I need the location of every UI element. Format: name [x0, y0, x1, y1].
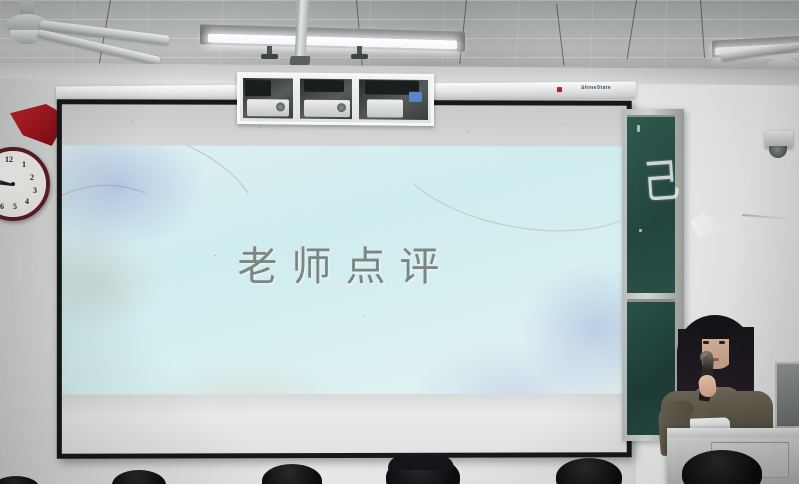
projector-housing-cage	[237, 72, 434, 126]
presenter-eye-right	[719, 341, 725, 344]
projector-body	[247, 99, 289, 116]
projector-indicator	[409, 92, 422, 102]
projection-screen-surface: 老师点评	[62, 104, 627, 453]
clock-center-pin	[11, 182, 15, 186]
blackboard-panel-upper: 己	[627, 115, 675, 293]
equipment-frame	[775, 362, 799, 428]
chalk-smudge	[637, 125, 640, 132]
projector-part	[245, 80, 271, 96]
lectern-top-surface	[667, 428, 799, 437]
screen-unlit-bottom	[62, 394, 627, 454]
projector-part	[304, 80, 344, 92]
cage-window-right	[359, 79, 428, 120]
projector-lens	[337, 103, 346, 112]
chalk-writing: 己	[640, 144, 681, 212]
clock-numeral-5: 5	[13, 202, 17, 211]
projected-slide: 老师点评	[62, 145, 627, 394]
cage-window-left	[243, 78, 293, 119]
slide-title: 老师点评	[62, 234, 627, 292]
brand-logo-mark	[557, 87, 562, 92]
projection-screen: 老师点评	[57, 99, 632, 459]
clock-numeral-3: 3	[33, 186, 37, 195]
screen-speck	[215, 255, 216, 256]
cage-mount-foot	[351, 54, 368, 59]
clock-numeral-1: 1	[22, 160, 26, 169]
clock-numeral-12: 12	[5, 155, 13, 164]
screen-speck	[562, 124, 563, 125]
classroom-photo: 12 1 2 3 4 5 6 ShineState 老师点评	[0, 0, 799, 484]
student-head-accessory	[388, 456, 454, 470]
projector-lens	[276, 102, 285, 111]
projector-body	[304, 100, 350, 117]
screen-speck	[132, 120, 133, 121]
clock-numeral-2: 2	[30, 173, 34, 182]
cage-mount-foot	[261, 54, 278, 59]
clock-numeral-4: 4	[25, 197, 29, 206]
chalk-smudge	[639, 229, 642, 232]
presenter-eye-left	[703, 341, 709, 344]
cage-window-center	[300, 79, 352, 120]
screen-speck	[363, 315, 364, 316]
clock-numeral-6: 6	[0, 202, 4, 211]
screen-speck	[467, 131, 468, 132]
screen-brand-label: ShineState	[581, 85, 611, 91]
screen-speck	[259, 127, 260, 128]
projector-body	[367, 99, 403, 117]
projector-pole-bracket	[289, 56, 310, 65]
